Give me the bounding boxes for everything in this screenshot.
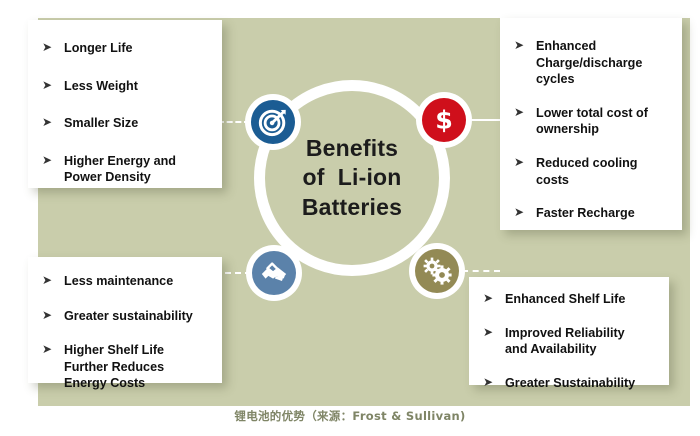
benefit-box-bottom-left: ➤ Less maintenance ➤ Greater sustainabil…	[28, 257, 222, 383]
bullet-icon: ➤	[514, 38, 524, 54]
bullet-icon: ➤	[42, 78, 52, 94]
list-item: ➤ Greater sustainability	[38, 308, 210, 325]
handshake-icon	[252, 251, 296, 295]
bullet-icon: ➤	[42, 308, 52, 324]
list-item-label: Reduced coolingcosts	[536, 156, 637, 187]
list-item-label: Smaller Size	[64, 116, 138, 130]
list-item-label: Greater Sustainability	[505, 376, 635, 390]
list-item: ➤ Improved Reliabilityand Availability	[479, 325, 659, 358]
list-item-label: Enhanced Shelf Life	[505, 292, 625, 306]
list-item: ➤ Smaller Size	[38, 115, 210, 132]
bullet-icon: ➤	[42, 115, 52, 131]
list-item: ➤ Faster Recharge	[510, 205, 672, 222]
bullet-icon: ➤	[42, 40, 52, 56]
bullet-icon: ➤	[483, 375, 493, 391]
bullet-icon: ➤	[42, 153, 52, 169]
benefit-box-top-left: ➤ Longer Life ➤ Less Weight ➤ Smaller Si…	[28, 20, 222, 188]
list-item-label: Greater sustainability	[64, 309, 193, 323]
svg-text:$: $	[435, 105, 453, 134]
center-title-line-3: Batteries	[302, 193, 402, 222]
list-item-label: Longer Life	[64, 41, 133, 55]
node-target[interactable]	[245, 94, 301, 150]
list-item: ➤ Longer Life	[38, 40, 210, 57]
benefit-list-bottom-left: ➤ Less maintenance ➤ Greater sustainabil…	[38, 273, 210, 392]
list-item: ➤ Lower total cost ofownership	[510, 105, 672, 138]
figure-caption: 锂电池的优势（来源：Frost & Sullivan)	[0, 408, 700, 424]
list-item-label: Higher Shelf LifeFurther ReducesEnergy C…	[64, 343, 164, 390]
list-item-label: Less maintenance	[64, 274, 173, 288]
infographic-stage: Benefits of Li-ion Batteries $	[0, 0, 700, 436]
list-item-label: Less Weight	[64, 79, 138, 93]
bullet-icon: ➤	[514, 155, 524, 171]
node-reliability[interactable]	[409, 243, 465, 299]
benefit-list-bottom-right: ➤ Enhanced Shelf Life ➤ Improved Reliabi…	[479, 291, 659, 391]
target-icon	[251, 100, 295, 144]
list-item: ➤ Less Weight	[38, 78, 210, 95]
list-item-label: Faster Recharge	[536, 206, 635, 220]
node-cost[interactable]: $	[416, 92, 472, 148]
list-item: ➤ Higher Energy andPower Density	[38, 153, 210, 186]
bullet-icon: ➤	[514, 205, 524, 221]
list-item: ➤ Enhanced Shelf Life	[479, 291, 659, 308]
list-item-label: Higher Energy andPower Density	[64, 154, 176, 185]
node-sustainability[interactable]	[246, 245, 302, 301]
bullet-icon: ➤	[483, 325, 493, 341]
bullet-icon: ➤	[483, 291, 493, 307]
benefit-box-top-right: ➤ EnhancedCharge/dischargecycles ➤ Lower…	[500, 18, 682, 230]
center-title-line-2: of Li-ion	[302, 163, 401, 192]
bullet-icon: ➤	[514, 105, 524, 121]
list-item: ➤ EnhancedCharge/dischargecycles	[510, 38, 672, 88]
list-item-label: Lower total cost ofownership	[536, 106, 648, 137]
list-item: ➤ Greater Sustainability	[479, 375, 659, 392]
benefit-box-bottom-right: ➤ Enhanced Shelf Life ➤ Improved Reliabi…	[469, 277, 669, 385]
benefit-list-top-right: ➤ EnhancedCharge/dischargecycles ➤ Lower…	[510, 38, 672, 222]
gears-icon	[415, 249, 459, 293]
list-item: ➤ Less maintenance	[38, 273, 210, 290]
list-item-label: EnhancedCharge/dischargecycles	[536, 39, 642, 86]
list-item: ➤ Higher Shelf LifeFurther ReducesEnergy…	[38, 342, 210, 392]
list-item-label: Improved Reliabilityand Availability	[505, 326, 625, 357]
list-item: ➤ Reduced coolingcosts	[510, 155, 672, 188]
center-title-line-1: Benefits	[306, 134, 398, 163]
bullet-icon: ➤	[42, 273, 52, 289]
dollar-icon: $	[422, 98, 466, 142]
benefit-list-top-left: ➤ Longer Life ➤ Less Weight ➤ Smaller Si…	[38, 40, 210, 186]
bullet-icon: ➤	[42, 342, 52, 358]
connector-bottom-right	[462, 270, 500, 272]
